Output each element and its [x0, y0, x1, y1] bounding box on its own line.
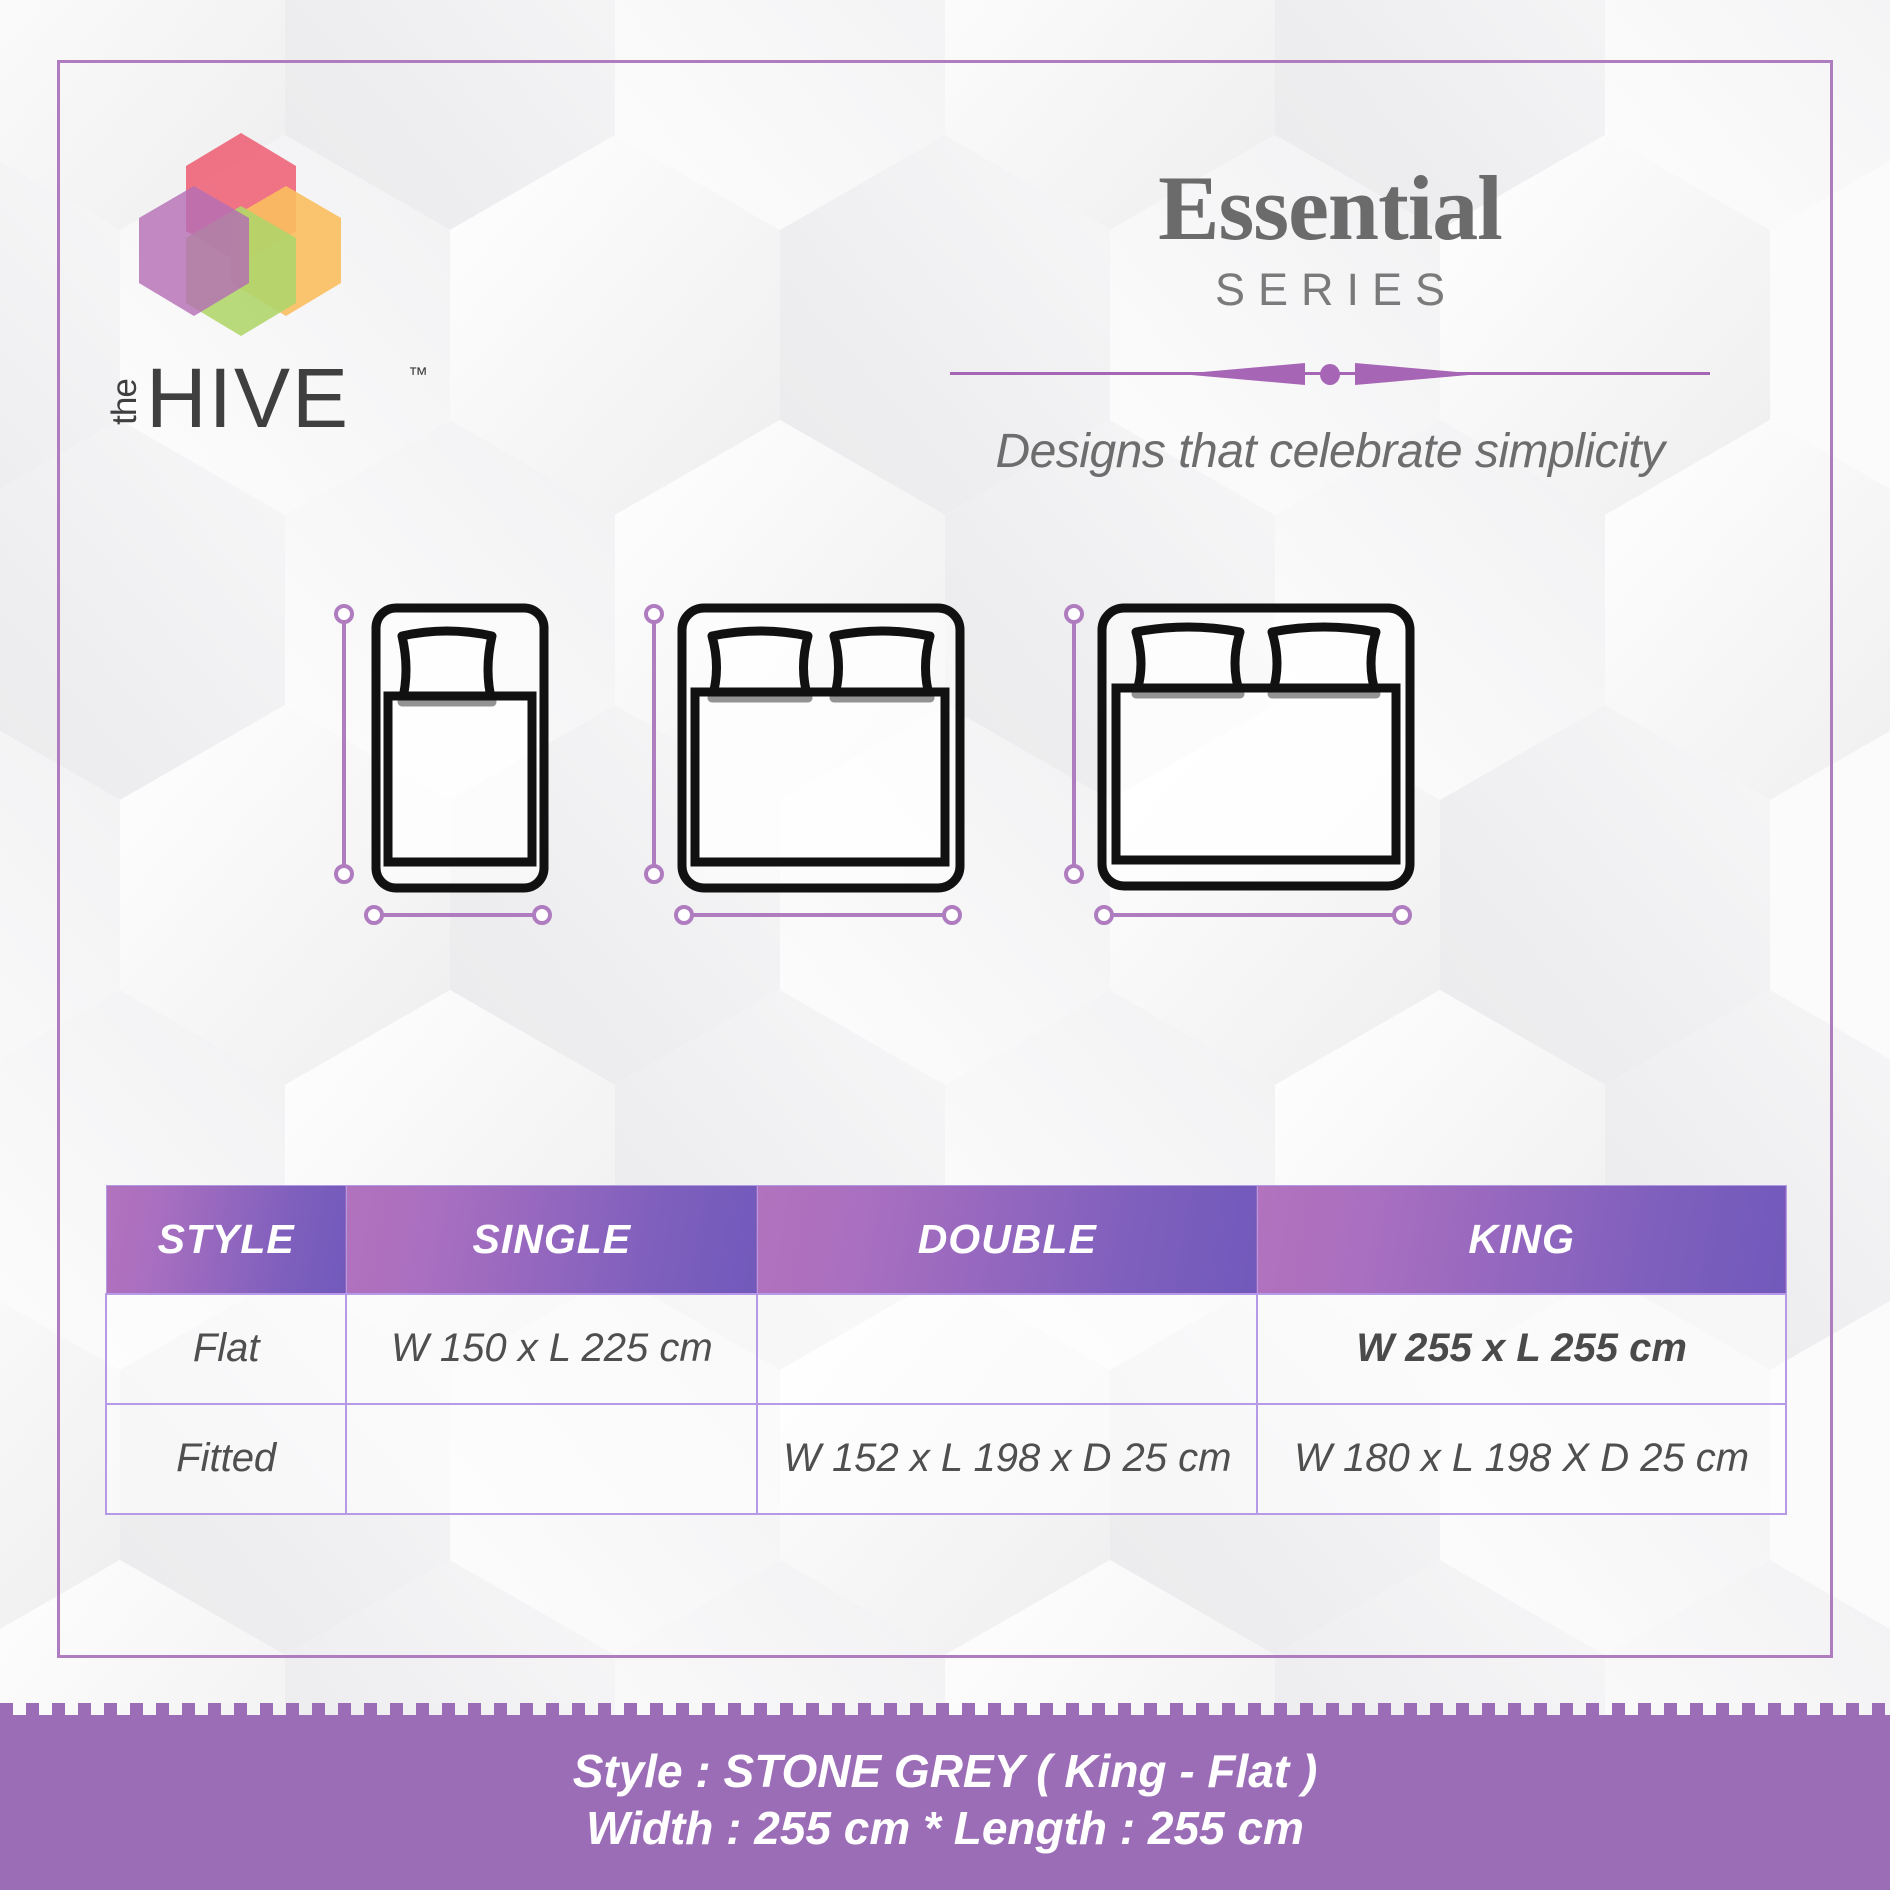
logo-the-text: the	[105, 379, 145, 425]
logo-hive-text: HIVE	[146, 356, 350, 440]
divider-center-dot-icon	[1320, 364, 1340, 385]
single-bed-diagram	[330, 600, 560, 940]
footer-style-line: Style : STONE GREY ( King - Flat )	[0, 1743, 1890, 1800]
cell-fitted-king: W 180 x L 198 X D 25 cm	[1257, 1404, 1786, 1514]
single-bed-pillow	[402, 631, 492, 702]
king-bed-diagram	[1060, 600, 1420, 940]
cell-fitted-double: W 152 x L 198 x D 25 cm	[757, 1404, 1257, 1514]
column-header-king: KING	[1257, 1186, 1786, 1294]
table-header-row: STYLE SINGLE DOUBLE KING	[106, 1186, 1786, 1294]
cell-flat-single: W 150 x L 225 cm	[346, 1294, 757, 1404]
brand-logo: the HIVE ™	[108, 128, 458, 440]
row-label-flat: Flat	[106, 1294, 346, 1404]
cell-flat-king: W 255 x L 255 cm	[1257, 1294, 1786, 1404]
brand-tagline: Designs that celebrate simplicity	[930, 422, 1730, 482]
footer-dimensions-line: Width : 255 cm * Length : 255 cm	[0, 1800, 1890, 1857]
cell-flat-double	[757, 1294, 1257, 1404]
footer-stitch-edge	[0, 1703, 1890, 1717]
double-bed-diagram	[640, 600, 970, 940]
king-bed-duvet	[1116, 688, 1396, 860]
divider-left-arrow-icon	[1180, 363, 1305, 385]
column-header-double: DOUBLE	[757, 1186, 1257, 1294]
product-footer-banner: Style : STONE GREY ( King - Flat ) Width…	[0, 1715, 1890, 1890]
table-row: Fitted W 152 x L 198 x D 25 cm W 180 x L…	[106, 1404, 1786, 1514]
column-header-single: SINGLE	[346, 1186, 757, 1294]
series-subtitle: SERIES	[930, 262, 1730, 318]
ornamental-divider	[950, 358, 1710, 388]
column-header-style: STYLE	[106, 1186, 346, 1294]
single-bed-duvet	[388, 696, 532, 862]
trademark-symbol: ™	[408, 364, 428, 387]
bed-size-diagrams	[0, 600, 1890, 1080]
series-header: Essential SERIES Designs that celebrate …	[930, 160, 1730, 482]
infographic-page: the HIVE ™ Essential SERIES Designs that…	[0, 0, 1890, 1890]
logo-wordmark: the HIVE ™	[108, 362, 408, 440]
page-title: Essential	[930, 160, 1730, 256]
cell-fitted-single	[346, 1404, 757, 1514]
table-row: Flat W 150 x L 225 cm W 255 x L 255 cm	[106, 1294, 1786, 1404]
divider-right-arrow-icon	[1355, 363, 1480, 385]
size-chart-table: STYLE SINGLE DOUBLE KING Flat W 150 x L …	[105, 1185, 1787, 1515]
double-bed-duvet	[695, 692, 945, 862]
hive-flower-icon	[126, 128, 356, 343]
row-label-fitted: Fitted	[106, 1404, 346, 1514]
